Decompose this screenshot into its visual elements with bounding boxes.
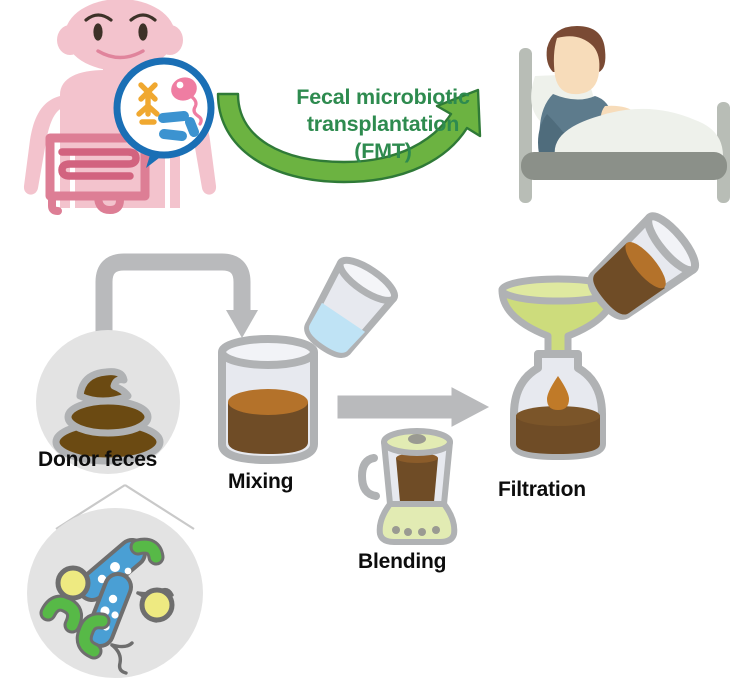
patient-in-bed xyxy=(495,18,750,213)
mixing-liquid-surface xyxy=(228,389,308,415)
bacteria-zoom-circle xyxy=(20,505,210,685)
bed-headboard xyxy=(519,48,532,203)
blending-label: Blending xyxy=(358,550,446,574)
blender xyxy=(352,420,482,550)
donor-feces-label: Donor feces xyxy=(38,448,157,472)
fmt-label-line3: (FMT) xyxy=(268,138,498,165)
fmt-label: Fecal microbiotic transplantation (FMT) xyxy=(268,84,498,165)
gut-microbiota-magnifier xyxy=(108,56,224,178)
fmt-label-line1: Fecal microbiotic xyxy=(268,84,498,111)
coccus xyxy=(58,568,88,598)
filtration-label: Filtration xyxy=(498,478,586,502)
coccus xyxy=(142,590,172,620)
mixing-label: Mixing xyxy=(228,470,293,494)
blender-contents xyxy=(396,458,438,502)
figure-canvas: Fecal microbiotic transplantation (FMT) xyxy=(0,0,753,686)
fmt-label-line2: transplantation xyxy=(268,111,498,138)
mattress xyxy=(521,152,727,180)
slurry-glass xyxy=(570,218,720,348)
blender-base xyxy=(380,504,455,542)
water-glass xyxy=(288,256,398,366)
blender-handle xyxy=(362,458,376,496)
